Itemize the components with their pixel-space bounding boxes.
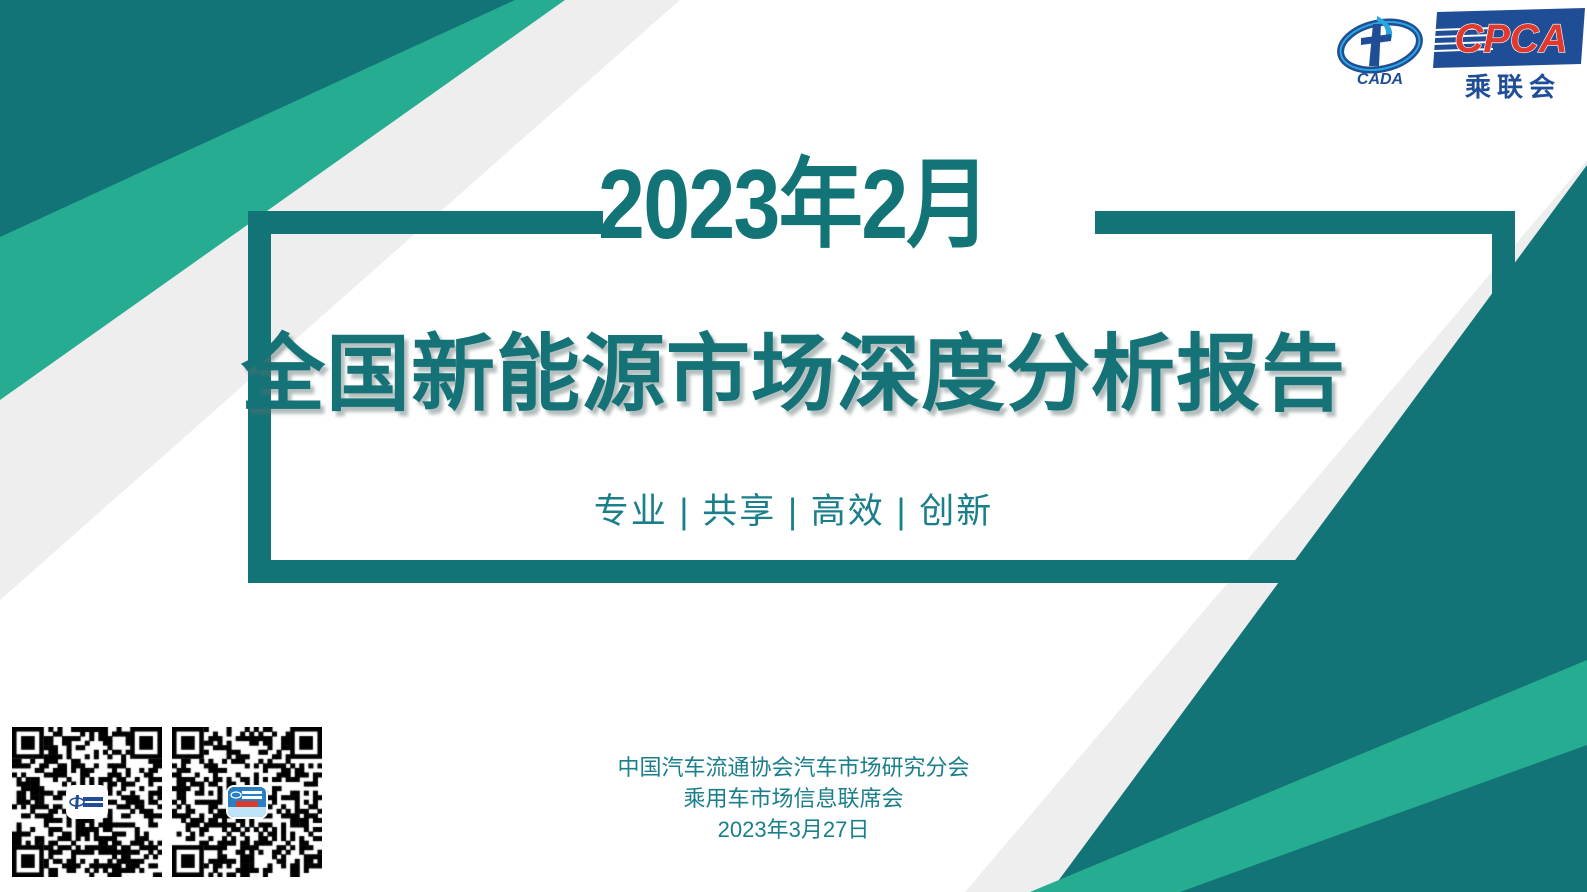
cada-wordmark: CADA: [1357, 71, 1403, 88]
cpca-wordmark: CPCA: [1454, 17, 1567, 61]
cada-stem-icon: [1369, 24, 1381, 66]
frame-border-bottom: [248, 560, 1515, 583]
report-main-title: 全国新能源市场深度分析报告: [0, 330, 1587, 418]
slide-root: 2023年2月 全国新能源市场深度分析报告 专业 | 共享 | 高效 | 创新 …: [0, 0, 1587, 892]
qr-code-cpca-wechat[interactable]: [172, 727, 322, 877]
qr-center-logo-1: [68, 787, 106, 817]
qr-logo-mark-2-icon: [228, 787, 266, 817]
report-date-title: 2023年2月: [111, 155, 1476, 253]
qr-logo-mark-1-icon: [68, 787, 106, 817]
report-subtitle: 专业 | 共享 | 高效 | 创新: [0, 494, 1587, 529]
qr-center-logo-2: [228, 787, 266, 817]
cpca-chinese-wordmark: 乘联会: [1464, 72, 1561, 102]
cpca-cada-logo: CADA CPCA 乘联会: [1333, 4, 1585, 104]
qr-code-cpca-official[interactable]: [12, 727, 162, 877]
